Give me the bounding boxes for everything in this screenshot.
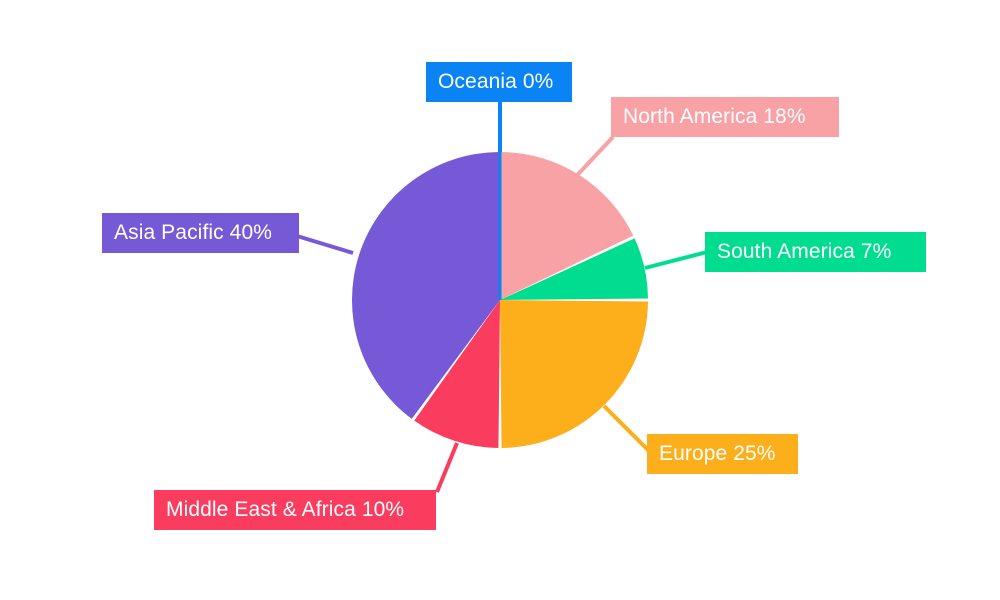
pie-label-south-america[interactable]: South America 7% — [705, 232, 926, 272]
pie-label-oceania[interactable]: Oceania 0% — [426, 62, 572, 102]
pie-label-north-america[interactable]: North America 18% — [611, 97, 839, 137]
pie-label-middle-east-africa[interactable]: Middle East & Africa 10% — [154, 490, 436, 530]
leader-line-south-america — [645, 252, 707, 268]
pie-chart-canvas: North America 18%South America 7%Europe … — [0, 0, 1000, 600]
pie-slices-group — [352, 152, 648, 448]
leader-line-europe — [604, 406, 650, 452]
pie-label-europe[interactable]: Europe 25% — [647, 434, 798, 474]
leader-line-asia-pacific — [297, 236, 353, 253]
leader-line-middle-east-africa — [437, 443, 457, 492]
pie-label-asia-pacific[interactable]: Asia Pacific 40% — [102, 213, 299, 253]
